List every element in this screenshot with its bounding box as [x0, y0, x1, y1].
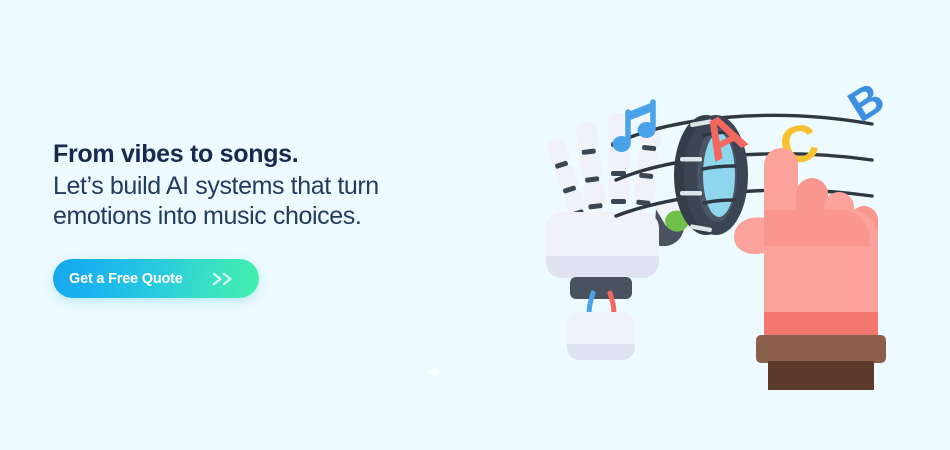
- page-subtitle-line-2: emotions into music choices.: [53, 201, 483, 232]
- page-title: From vibes to songs.: [53, 140, 483, 169]
- sparkle-icon: [427, 364, 442, 381]
- human-hand-pointing-icon: [734, 148, 886, 390]
- page-subtitle: Let’s build AI systems that turn emotion…: [53, 171, 483, 232]
- cta-label: Get a Free Quote: [69, 271, 183, 287]
- letter-b: B: [840, 73, 893, 131]
- hero-illustration: A B C: [520, 60, 920, 390]
- hero-banner: From vibes to songs. Let’s build AI syst…: [0, 0, 950, 450]
- double-chevron-right-icon: [211, 271, 239, 287]
- page-subtitle-line-1: Let’s build AI systems that turn: [53, 171, 483, 202]
- svg-text:B: B: [840, 73, 893, 131]
- get-a-free-quote-button[interactable]: Get a Free Quote: [53, 259, 259, 298]
- copy-block: From vibes to songs. Let’s build AI syst…: [53, 140, 483, 232]
